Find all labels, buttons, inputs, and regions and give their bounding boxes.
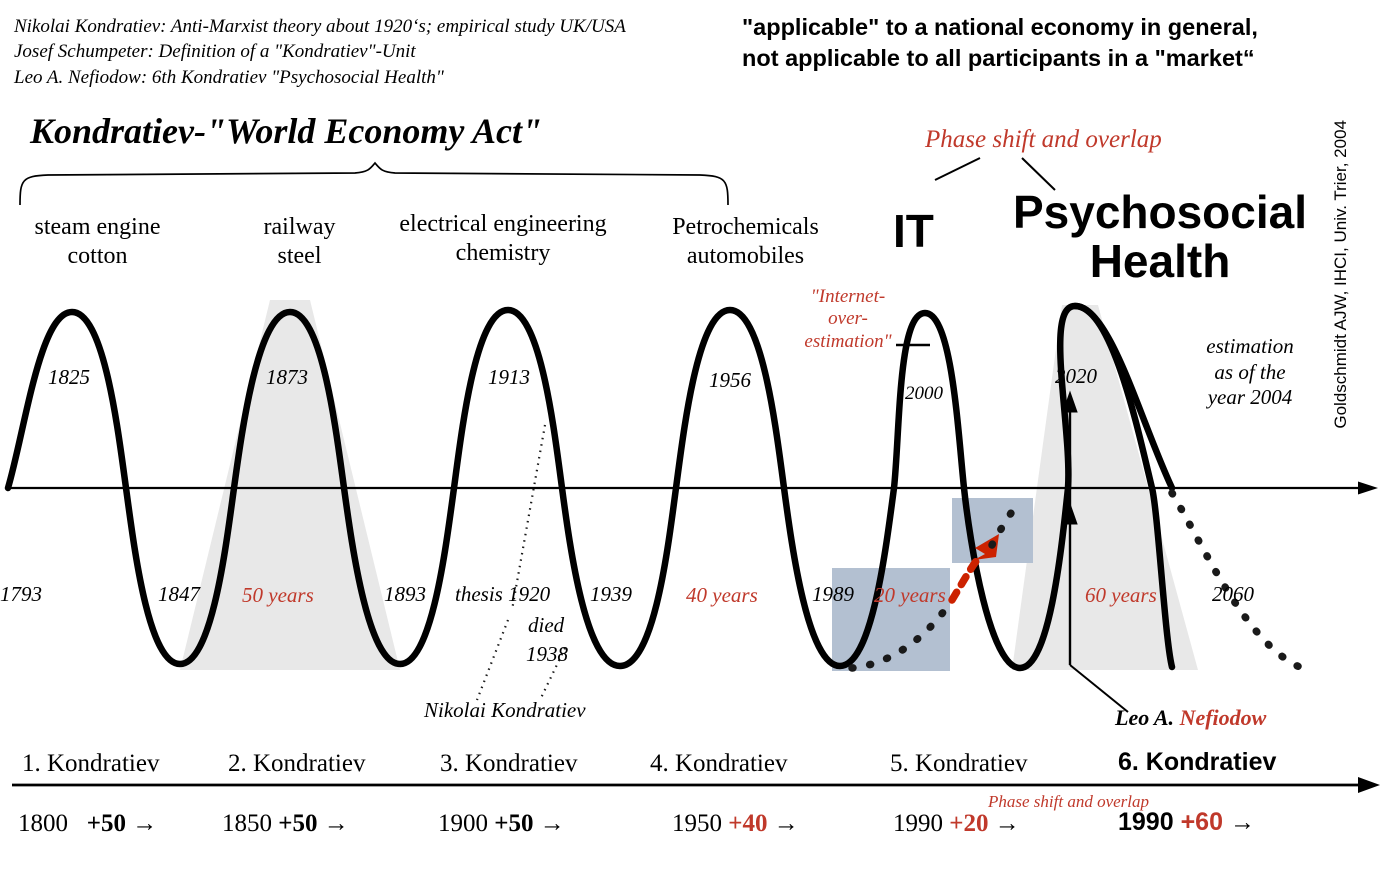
cycle-5-year: 1990 xyxy=(893,810,943,837)
cycle-value-1: 1800 +50 → xyxy=(18,810,157,838)
trough-year-1847: 1847 xyxy=(158,582,200,607)
cycle-value-5: 1990 +20 → xyxy=(893,810,1020,838)
cycle-4-arrow: → xyxy=(774,810,799,837)
duration-60-years: 60 years xyxy=(1085,583,1157,608)
cycle-value-2: 1850 +50 → xyxy=(222,810,349,838)
cycle-2-year: 1850 xyxy=(222,810,272,837)
annotation-died: died xyxy=(528,613,564,638)
cycle-3-delta: +50 xyxy=(494,810,533,837)
internet-overestimation-label: "Internet-over-estimation" xyxy=(793,286,903,353)
cycle-6-delta: +60 xyxy=(1181,808,1223,836)
cycle-value-3: 1900 +50 → xyxy=(438,810,565,838)
cycle-5-arrow: → xyxy=(995,810,1020,837)
sector-label-steam: steam engine cotton xyxy=(5,213,190,271)
cycle-2-delta: +50 xyxy=(278,810,317,837)
cycle-4-year: 1950 xyxy=(672,810,722,837)
peak-year-1913: 1913 xyxy=(488,365,530,390)
peak-year-2000: 2000 xyxy=(905,383,943,405)
peak-year-1873: 1873 xyxy=(266,365,308,390)
sector-label-petrochemicals: Petrochemicals automobiles xyxy=(648,213,843,271)
cycle-axis-line xyxy=(0,770,1385,800)
annotation-thesis-1920: thesis 1920 xyxy=(455,582,550,607)
duration-40-years: 40 years xyxy=(686,583,758,608)
peak-year-2020: 2020 xyxy=(1055,364,1097,389)
duration-20-years: 20 years xyxy=(874,583,946,608)
annotation-nikolai-kondratiev: Nikolai Kondratiev xyxy=(424,698,586,723)
cycle-2-arrow: → xyxy=(324,810,349,837)
duration-50-years-1: 50 years xyxy=(242,583,314,608)
cycle-3-year: 1900 xyxy=(438,810,488,837)
trough-year-1893: 1893 xyxy=(384,582,426,607)
cycle-value-6: 1990 +60 → xyxy=(1118,808,1255,837)
trough-year-1939: 1939 xyxy=(590,582,632,607)
sector-brace xyxy=(20,163,728,205)
label-psychosocial-health: PsychosocialHealth xyxy=(1000,188,1320,286)
peak-year-1956: 1956 xyxy=(709,368,751,393)
sector-label-railway: railway steel xyxy=(212,213,387,271)
nefiodow-prefix: Leo A. xyxy=(1115,705,1180,730)
trough-year-1793: 1793 xyxy=(0,582,42,607)
cycle-5-delta: +20 xyxy=(949,810,988,837)
cycle-value-4: 1950 +40 → xyxy=(672,810,799,838)
cycle-6-year: 1990 xyxy=(1118,808,1174,836)
trough-year-1989: 1989 xyxy=(812,582,854,607)
cycle-shaded-regions xyxy=(180,300,1198,670)
annotation-died-year: 1938 xyxy=(526,642,568,667)
cycle-1-delta: +50 xyxy=(87,810,126,837)
cycle-6-arrow: → xyxy=(1230,808,1255,836)
nefiodow-name: Nefiodow xyxy=(1180,705,1267,730)
cycle-4-delta: +40 xyxy=(728,810,767,837)
phase-shift-overlap-label: Phase shift and overlap xyxy=(925,126,1162,154)
nefiodow-attribution: Leo A. Nefiodow xyxy=(1115,705,1266,731)
cycle-1-arrow: → xyxy=(132,810,157,837)
peak-year-1825: 1825 xyxy=(48,365,90,390)
cycle-1-year: 1800 xyxy=(18,810,68,837)
sector-label-electrical: electrical engineering chemistry xyxy=(372,210,634,268)
kondratiev-wave-diagram xyxy=(0,0,1385,875)
label-it: IT xyxy=(893,204,934,258)
estimation-note: estimationas of theyear 2004 xyxy=(1190,334,1310,411)
cycle-3-arrow: → xyxy=(540,810,565,837)
trough-year-2060: 2060 xyxy=(1212,582,1254,607)
